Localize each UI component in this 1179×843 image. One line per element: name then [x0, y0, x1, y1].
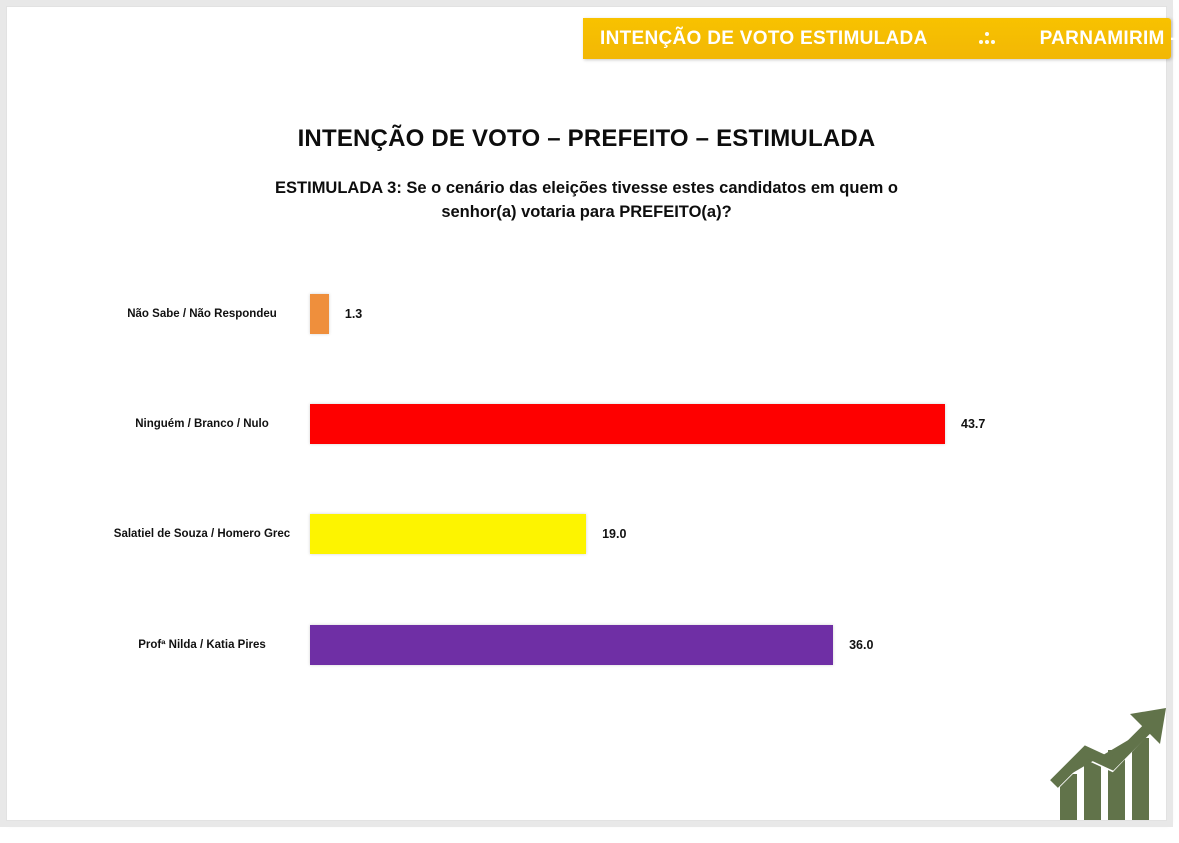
category-label: Ninguém / Branco / Nulo [102, 417, 302, 431]
bar [310, 294, 329, 334]
bar-value-label: 1.3 [345, 307, 362, 321]
header-title: INTENÇÃO DE VOTO ESTIMULADA [600, 28, 928, 50]
bar-value-label: 19.0 [602, 527, 626, 541]
category-label: Profª Nilda / Katia Pires [102, 638, 302, 652]
header-region-label: PARNAMIRIM - RN [1040, 28, 1179, 50]
category-label-wrap: Não Sabe / Não Respondeu [102, 294, 302, 334]
bar [310, 514, 586, 554]
bar-row: Ninguém / Branco / Nulo43.7 [7, 404, 1166, 444]
growth-chart-arrow-logo [1046, 702, 1166, 820]
bar [310, 625, 833, 665]
category-label: Não Sabe / Não Respondeu [102, 307, 302, 321]
bar-value-label: 36.0 [849, 638, 873, 652]
category-label-wrap: Ninguém / Branco / Nulo [102, 404, 302, 444]
bar-row: Salatiel de Souza / Homero Grec19.0 [7, 514, 1166, 554]
triangle-dots-icon [974, 29, 1000, 49]
bar-chart-plot-area: Não Sabe / Não Respondeu1.3Ninguém / Bra… [7, 7, 1166, 820]
bar-row: Profª Nilda / Katia Pires36.0 [7, 625, 1166, 665]
category-label-wrap: Profª Nilda / Katia Pires [102, 625, 302, 665]
bar-value-label: 43.7 [961, 417, 985, 431]
slide-frame: INTENÇÃO DE VOTO ESTIMULADA PARNAMIRIM -… [6, 6, 1167, 821]
category-label: Salatiel de Souza / Homero Grec [102, 527, 302, 541]
header-ribbon: INTENÇÃO DE VOTO ESTIMULADA PARNAMIRIM -… [583, 18, 1171, 59]
category-label-wrap: Salatiel de Souza / Homero Grec [102, 514, 302, 554]
bar [310, 404, 945, 444]
bar-row: Não Sabe / Não Respondeu1.3 [7, 294, 1166, 334]
